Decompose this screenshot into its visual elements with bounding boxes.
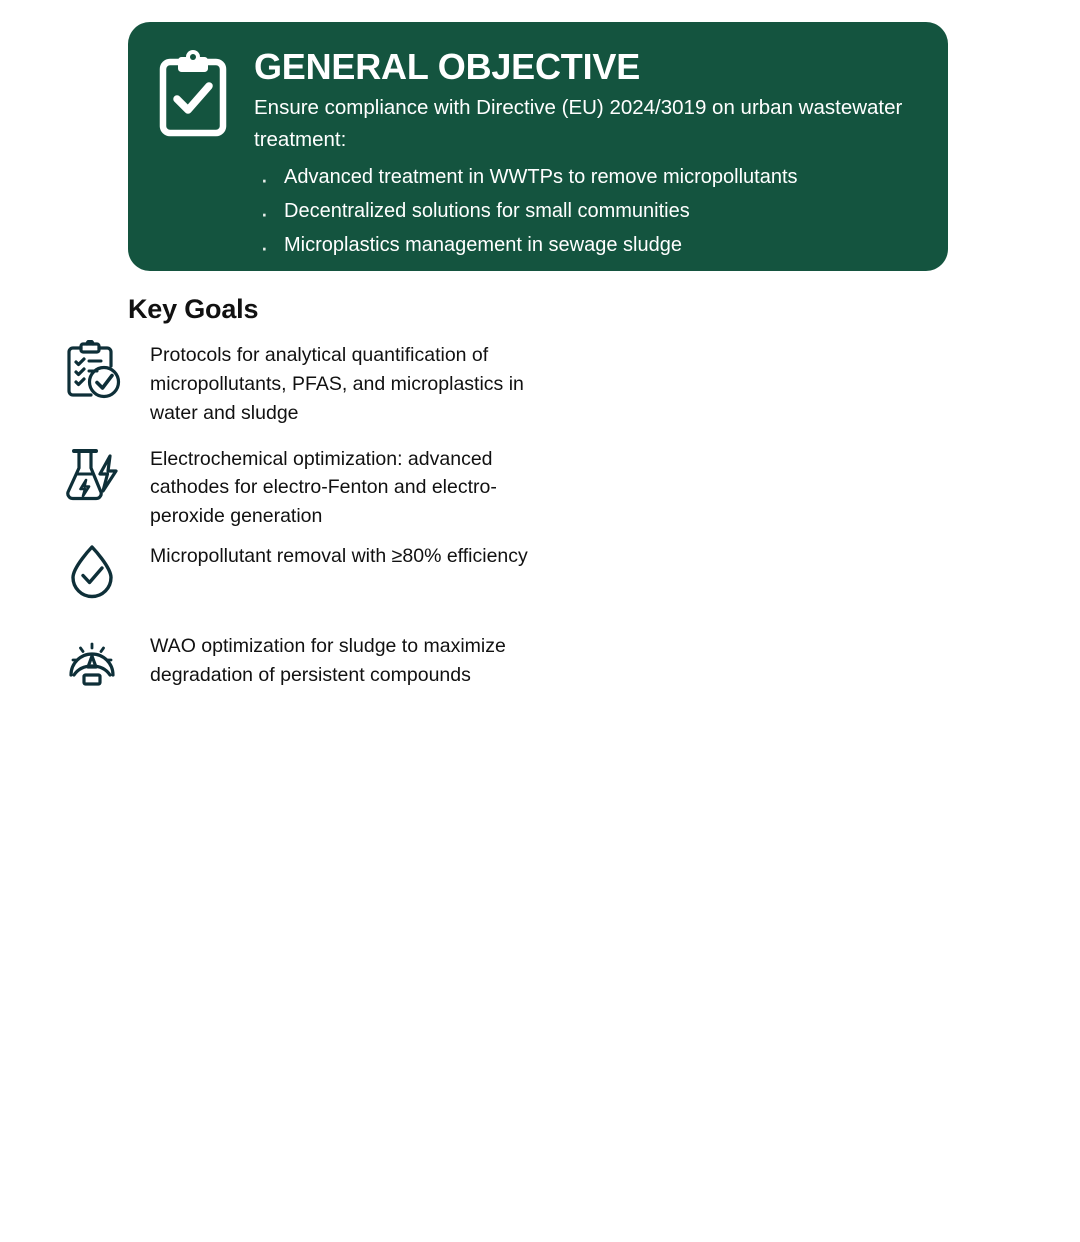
banner-bullet-list: Advanced treatment in WWTPs to remove mi… bbox=[254, 161, 924, 262]
banner-bullet-item: Advanced treatment in WWTPs to remove mi… bbox=[254, 161, 924, 195]
banner-icon-wrap bbox=[156, 42, 248, 253]
goal-text: Electrochemical optimization: advanced c… bbox=[128, 442, 528, 532]
goal-item: Micropollutant removal with ≥80% efficie… bbox=[56, 539, 528, 613]
banner-text-column: GENERAL OBJECTIVE Ensure compliance with… bbox=[248, 42, 924, 253]
droplet-check-icon bbox=[56, 539, 128, 613]
key-goals-heading: Key Goals bbox=[128, 294, 258, 325]
goal-item: Protocols for analytical quantification … bbox=[56, 338, 528, 428]
flask-lightning-icon bbox=[56, 442, 128, 516]
goal-text: WAO optimization for sludge to maximize … bbox=[128, 629, 528, 690]
clipboard-check-icon bbox=[156, 127, 230, 144]
banner-bullet-item: Microplastics management in sewage sludg… bbox=[254, 229, 924, 263]
gauge-icon bbox=[56, 629, 128, 703]
goal-item: WAO optimization for sludge to maximize … bbox=[56, 629, 528, 703]
general-objective-banner: GENERAL OBJECTIVE Ensure compliance with… bbox=[128, 22, 948, 271]
banner-bullet-item: Decentralized solutions for small commun… bbox=[254, 195, 924, 229]
goal-text: Micropollutant removal with ≥80% efficie… bbox=[128, 539, 528, 571]
banner-title: GENERAL OBJECTIVE bbox=[254, 48, 924, 86]
goal-text: Protocols for analytical quantification … bbox=[128, 338, 528, 428]
clipboard-checklist-check-icon bbox=[56, 338, 128, 412]
key-goals-left-column: Protocols for analytical quantification … bbox=[28, 338, 528, 717]
goal-item: Electrochemical optimization: advanced c… bbox=[56, 442, 528, 532]
key-goals-right-column: Water reuse using electrochemical oxidat… bbox=[548, 336, 1080, 1242]
banner-subtitle: Ensure compliance with Directive (EU) 20… bbox=[254, 92, 924, 156]
